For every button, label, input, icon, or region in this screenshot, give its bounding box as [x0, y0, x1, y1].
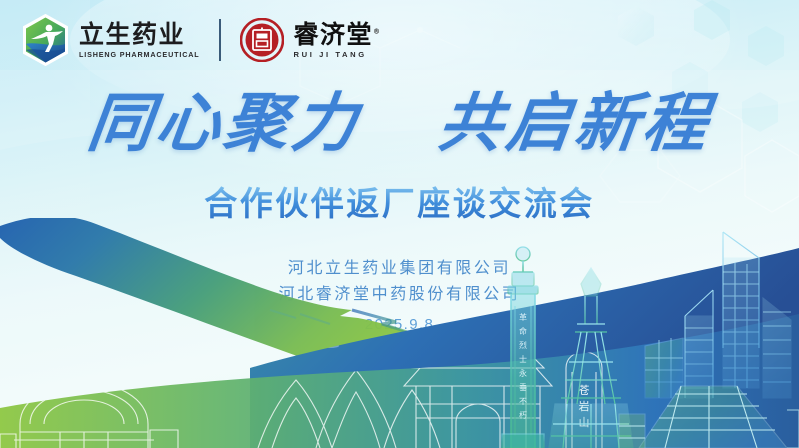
main-title-part1: 同心聚力: [84, 86, 365, 161]
ruijitang-name-en: RUI JI TANG: [294, 51, 382, 59]
svg-text:革: 革: [519, 312, 527, 322]
skyscraper-icon: [645, 232, 791, 398]
svg-text:垂: 垂: [519, 382, 527, 392]
svg-text:士: 士: [519, 354, 527, 364]
svg-text:命: 命: [519, 326, 527, 336]
lisheng-name-cn: 立生药业: [79, 22, 200, 47]
ruijitang-name-cn-text: 睿济堂: [294, 20, 374, 49]
lisheng-name-en: LISHENG PHARMACEUTICAL: [79, 51, 200, 58]
city-skyline-artwork: 革 命 烈 士 永 垂 不 朽: [469, 228, 799, 448]
main-title-part2: 共启新程: [434, 86, 715, 161]
svg-text:永: 永: [519, 368, 527, 378]
svg-text:烈: 烈: [519, 341, 527, 350]
svg-text:不: 不: [519, 397, 527, 406]
main-title: 同心聚力 共启新程: [0, 92, 799, 156]
lisheng-wordmark: 立生药业 LISHENG PHARMACEUTICAL: [79, 22, 200, 58]
logo-bar: 立生药业 LISHENG PHARMACEUTICAL 睿济堂® RUI JI …: [22, 14, 382, 66]
ruijitang-wordmark: 睿济堂® RUI JI TANG: [294, 22, 382, 59]
svg-text:朽: 朽: [519, 410, 527, 420]
lisheng-hexagon-logo-icon: [22, 14, 69, 66]
ruijitang-name-cn: 睿济堂®: [294, 22, 382, 47]
ruijitang-round-seal-icon: [240, 18, 284, 62]
registered-mark-icon: ®: [373, 27, 382, 35]
logo-divider: [219, 19, 221, 61]
event-banner: 立生药业 LISHENG PHARMACEUTICAL 睿济堂® RUI JI …: [0, 0, 799, 448]
